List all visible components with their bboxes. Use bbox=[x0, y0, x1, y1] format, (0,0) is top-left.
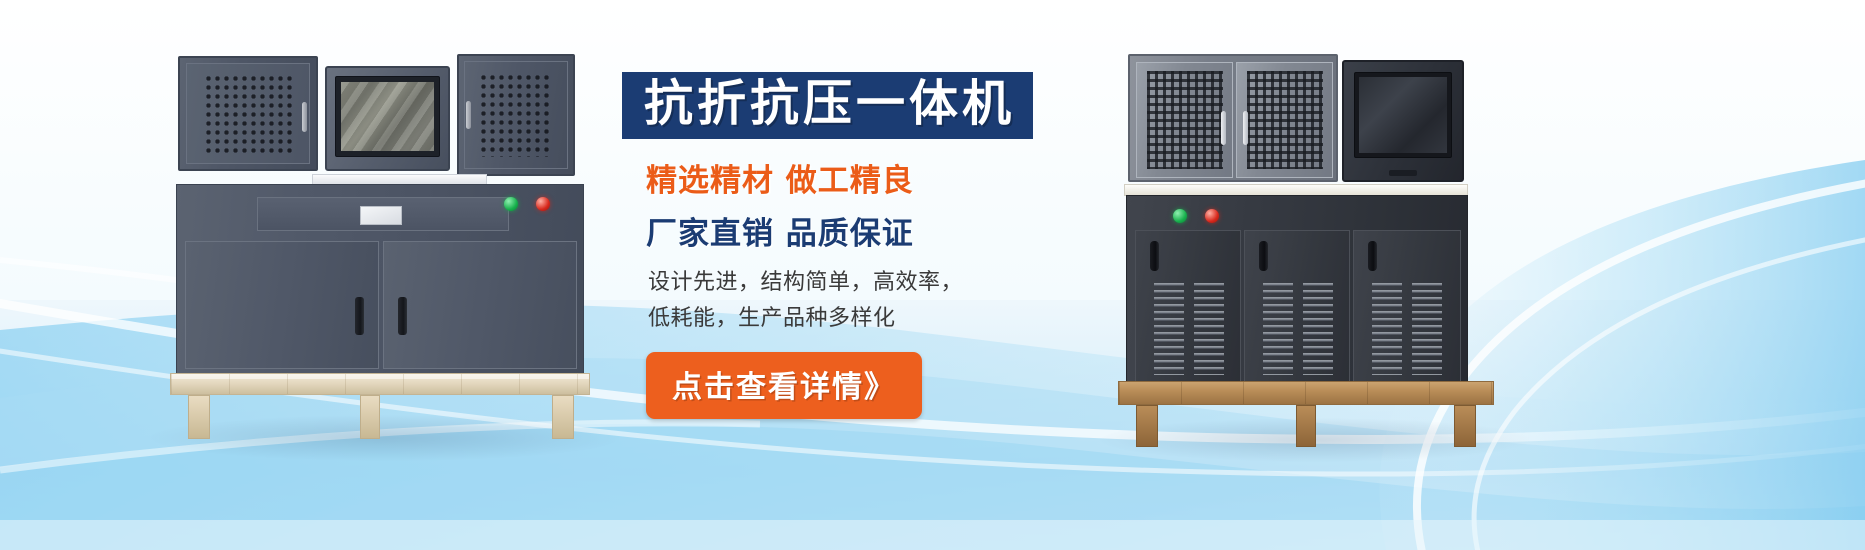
banner-title-bar: 抗折抗压一体机 bbox=[622, 72, 1033, 139]
right-upper-cabinet[interactable] bbox=[1128, 54, 1338, 182]
louver-vent-icon bbox=[1263, 283, 1293, 375]
louver-vent-icon bbox=[1303, 283, 1333, 375]
door-handle-icon bbox=[1150, 241, 1159, 271]
left-pallet-leg bbox=[188, 395, 210, 439]
green-indicator-icon[interactable] bbox=[504, 197, 518, 211]
banner-subtitle-orange: 精选精材 做工精良 bbox=[646, 155, 1070, 200]
door-handle-icon bbox=[1259, 241, 1268, 271]
right-pallet-leg bbox=[1136, 405, 1158, 447]
banner-text-block: 抗折抗压一体机 精选精材 做工精良 厂家直销 品质保证 设计先进，结构简单，高效… bbox=[620, 72, 1070, 419]
red-indicator-icon[interactable] bbox=[536, 197, 550, 211]
louver-vent-icon bbox=[1412, 283, 1442, 375]
door-handle-icon bbox=[1243, 111, 1248, 145]
left-monitor[interactable] bbox=[325, 66, 450, 171]
red-indicator-icon[interactable] bbox=[1205, 209, 1219, 223]
right-cabinet-door-c[interactable] bbox=[1353, 230, 1461, 382]
right-cabinet-door-a[interactable] bbox=[1135, 230, 1241, 382]
monitor-screen-icon bbox=[341, 82, 434, 151]
machine-left-grey[interactable] bbox=[160, 40, 590, 430]
door-handle-icon bbox=[398, 297, 407, 335]
perforated-panel-icon bbox=[1147, 71, 1223, 169]
green-indicator-icon[interactable] bbox=[1173, 209, 1187, 223]
louver-vent-icon bbox=[1194, 283, 1224, 375]
right-monitor[interactable] bbox=[1342, 60, 1464, 182]
banner-subtitle-blue: 厂家直销 品质保证 bbox=[646, 208, 1070, 253]
left-upper-left-cabinet[interactable] bbox=[178, 56, 318, 171]
right-pallet-leg bbox=[1454, 405, 1476, 447]
perforated-panel-icon bbox=[204, 74, 292, 153]
left-indicator-group bbox=[504, 196, 563, 215]
right-perforated-door-a[interactable] bbox=[1136, 62, 1233, 178]
monitor-stand bbox=[1389, 170, 1417, 176]
door-handle-icon bbox=[1368, 241, 1377, 271]
banner-description: 设计先进，结构简单，高效率， 低耗能，生产品种多样化 bbox=[648, 265, 1070, 336]
perforated-panel-icon bbox=[479, 73, 552, 158]
monitor-bezel bbox=[1354, 72, 1452, 158]
door-handle-icon bbox=[302, 102, 307, 132]
perforated-door[interactable] bbox=[186, 63, 310, 164]
banner-description-line-1: 设计先进，结构简单，高效率， bbox=[648, 265, 1070, 301]
left-cabinet-door-a[interactable] bbox=[185, 241, 379, 369]
monitor-bezel bbox=[335, 76, 440, 157]
page-title: 抗折抗压一体机 bbox=[644, 79, 1015, 130]
right-pallet-leg bbox=[1296, 405, 1316, 447]
product-promo-banner: 抗折抗压一体机 精选精材 做工精良 厂家直销 品质保证 设计先进，结构简单，高效… bbox=[0, 0, 1865, 550]
right-machine-body[interactable] bbox=[1126, 195, 1468, 387]
monitor-screen-icon bbox=[1359, 77, 1447, 153]
right-perforated-door-b[interactable] bbox=[1236, 62, 1333, 178]
left-cabinet-door-b[interactable] bbox=[383, 241, 577, 369]
louver-vent-icon bbox=[1372, 283, 1402, 375]
door-handle-icon bbox=[1221, 111, 1226, 145]
left-upper-right-cabinet[interactable] bbox=[457, 54, 575, 176]
left-wooden-pallet-icon bbox=[170, 373, 590, 395]
right-indicator-group bbox=[1173, 208, 1232, 227]
pallet-highlight bbox=[171, 374, 589, 379]
perforated-panel-icon bbox=[1247, 71, 1323, 169]
banner-description-line-2: 低耗能，生产品种多样化 bbox=[648, 301, 1070, 337]
left-control-drawer[interactable] bbox=[257, 197, 509, 231]
view-details-label: 点击查看详情》 bbox=[672, 370, 896, 405]
left-pallet-leg bbox=[552, 395, 574, 439]
perforated-door[interactable] bbox=[464, 61, 568, 169]
louver-vent-icon bbox=[1154, 283, 1184, 375]
view-details-button[interactable]: 点击查看详情》 bbox=[646, 352, 922, 419]
left-pallet-leg bbox=[360, 395, 380, 439]
right-wooden-pallet-icon bbox=[1118, 381, 1494, 405]
machine-right-steel[interactable] bbox=[1110, 38, 1500, 433]
door-handle-icon bbox=[466, 101, 471, 129]
door-handle-icon bbox=[355, 297, 364, 335]
right-cabinet-door-b[interactable] bbox=[1244, 230, 1350, 382]
left-nameplate-label bbox=[360, 206, 402, 225]
